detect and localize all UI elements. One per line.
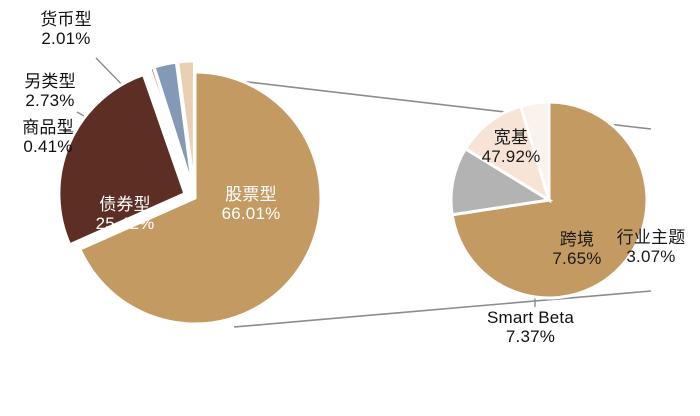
label-smart-beta-name: Smart Beta <box>468 308 593 327</box>
label-commodity-value: 0.41% <box>0 137 96 156</box>
label-cross-border-name: 跨境 <box>545 230 609 249</box>
label-smart-beta-value: 7.37% <box>468 327 593 346</box>
label-alternative-name: 另类型 <box>2 72 98 91</box>
label-broad-base-value: 47.92% <box>456 147 566 166</box>
label-equity-value: 66.01% <box>196 204 306 223</box>
label-broad-base-name: 宽基 <box>456 128 566 147</box>
label-money: 货币型 2.01% <box>18 10 114 48</box>
label-bond-value: 25.42% <box>70 214 180 233</box>
label-commodity-name: 商品型 <box>0 118 96 137</box>
label-sector-theme-name: 行业主题 <box>604 228 698 247</box>
label-bond-name: 债券型 <box>70 195 180 214</box>
pie-of-pie-chart: 货币型 2.01% 另类型 2.73% 商品型 0.41% 债券型 25.42%… <box>0 0 700 416</box>
label-equity-name: 股票型 <box>196 185 306 204</box>
label-cross-border: 跨境 7.65% <box>545 230 609 268</box>
label-alternative-value: 2.73% <box>2 91 98 110</box>
label-money-value: 2.01% <box>18 29 114 48</box>
label-equity: 股票型 66.01% <box>196 185 306 223</box>
label-bond: 债券型 25.42% <box>70 195 180 233</box>
label-alternative: 另类型 2.73% <box>2 72 98 110</box>
label-money-name: 货币型 <box>18 10 114 29</box>
label-commodity: 商品型 0.41% <box>0 118 96 156</box>
label-sector-theme-value: 3.07% <box>604 247 698 266</box>
label-smart-beta: Smart Beta 7.37% <box>468 308 593 346</box>
label-broad-base: 宽基 47.92% <box>456 128 566 166</box>
label-sector-theme: 行业主题 3.07% <box>604 228 698 266</box>
label-cross-border-value: 7.65% <box>545 249 609 268</box>
